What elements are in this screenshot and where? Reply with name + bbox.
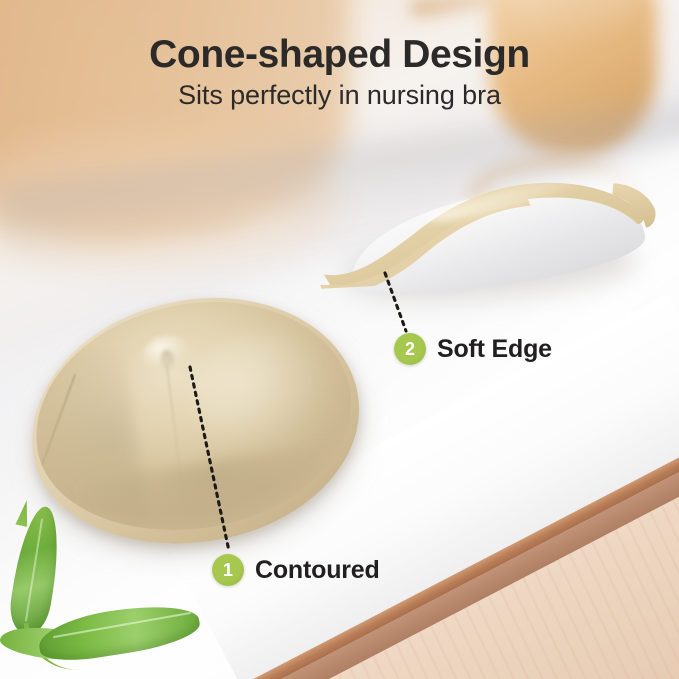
nursing-pad-side-profile (315, 161, 659, 309)
callout-contoured: 1 Contoured (212, 554, 380, 586)
nursing-pad-front-view (13, 276, 377, 567)
front-pad-body (19, 281, 368, 552)
page-subtitle: Sits perfectly in nursing bra (0, 80, 679, 111)
callout-soft-edge: 2 Soft Edge (394, 333, 552, 365)
callout-badge-1: 1 (212, 554, 244, 586)
callout-badge-2: 2 (394, 333, 426, 365)
front-pad-gloss (183, 323, 340, 463)
product-feature-image: Cone-shaped Design Sits perfectly in nur… (0, 0, 679, 679)
page-title: Cone-shaped Design (0, 33, 679, 77)
callout-label-2: Soft Edge (437, 335, 552, 364)
callout-label-1: Contoured (255, 556, 380, 585)
